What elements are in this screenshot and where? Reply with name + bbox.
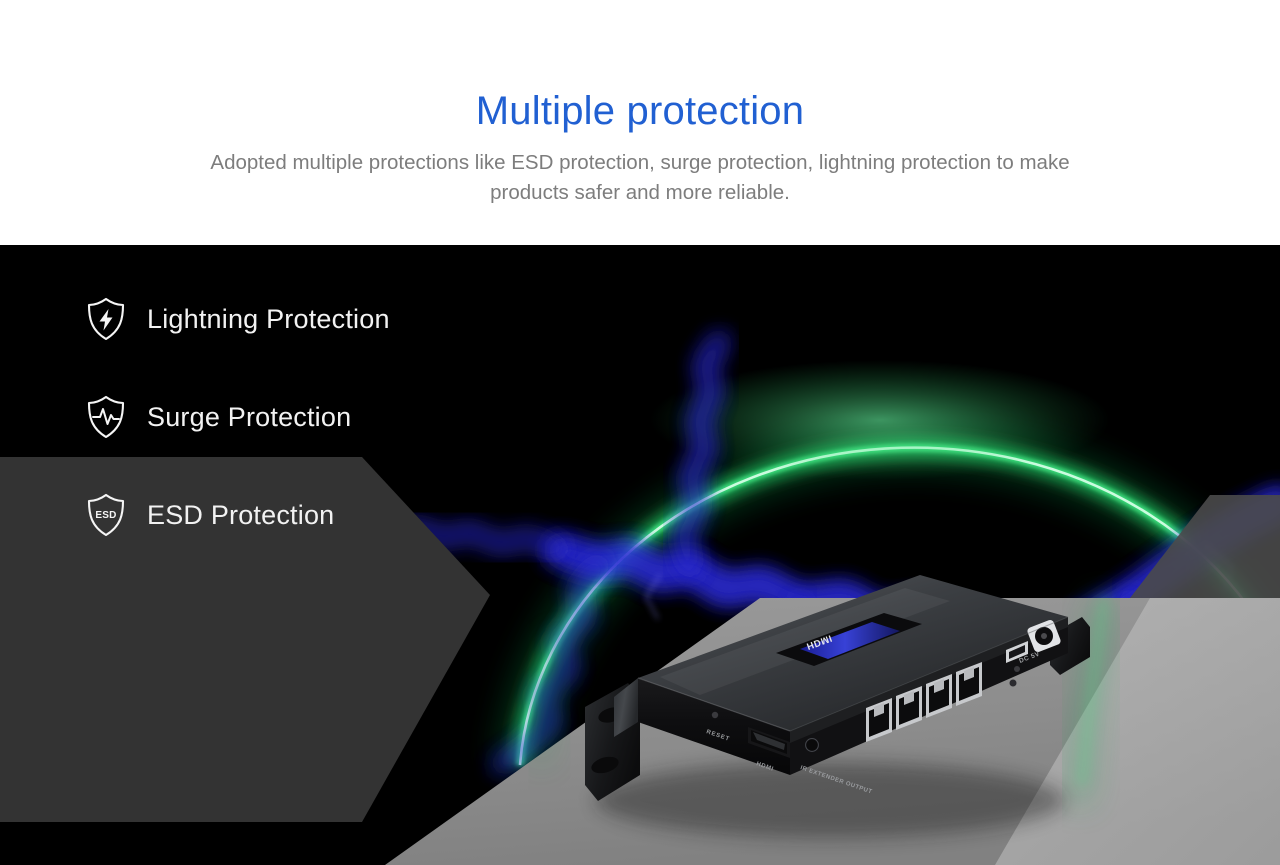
shield-pulse-icon	[85, 394, 127, 440]
feature-list: Lightning Protection Surge Protection ES…	[85, 295, 505, 589]
shield-lightning-icon	[85, 296, 127, 342]
page-subtitle: Adopted multiple protections like ESD pr…	[190, 148, 1090, 208]
shield-esd-icon: ESD	[85, 492, 127, 538]
feature-item-esd: ESD ESD Protection	[85, 491, 505, 539]
hero-section: HDMI	[0, 245, 1280, 865]
header-section: Multiple protection Adopted multiple pro…	[0, 0, 1280, 245]
feature-label: ESD Protection	[147, 500, 334, 531]
feature-label: Surge Protection	[147, 402, 351, 433]
feature-item-surge: Surge Protection	[85, 393, 505, 441]
page-title: Multiple protection	[0, 88, 1280, 134]
feature-label: Lightning Protection	[147, 304, 390, 335]
bottom-black-strip	[0, 822, 385, 865]
esd-badge-text: ESD	[95, 510, 116, 521]
feature-item-lightning: Lightning Protection	[85, 295, 505, 343]
